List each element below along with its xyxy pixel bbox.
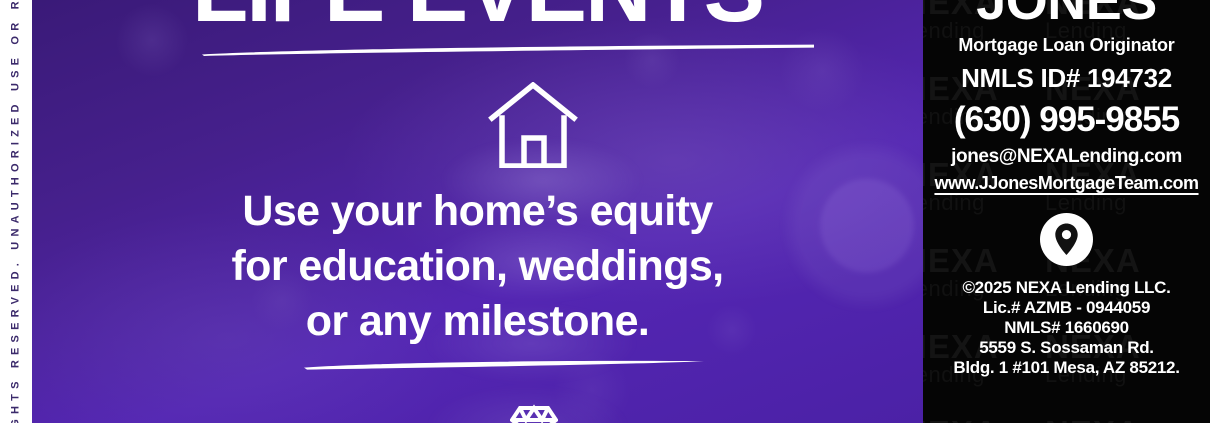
house-icon (488, 82, 578, 168)
legal-disclosure: ©2025 NEXA Lending LLC. Lic.# AZMB - 094… (929, 278, 1204, 378)
agent-name: JONES (929, 0, 1204, 28)
location-pin-wrapper (929, 213, 1204, 266)
creative-panel: LIFE EVENTS Use your home’s equity for e… (32, 0, 923, 423)
contact-panel: NEXALending NEXALending NEXALending NEXA… (923, 0, 1210, 423)
ad-creative-canvas: GHTS RESERVED. UNAUTHORIZED USE OR R LIF… (0, 0, 1210, 423)
copyright-watermark-strip: GHTS RESERVED. UNAUTHORIZED USE OR R (0, 0, 32, 423)
legal-line-1: ©2025 NEXA Lending LLC. (929, 278, 1204, 298)
watermark-tile-line1: NEXA (923, 416, 1045, 423)
watermark-tile-line1: NEXA (1045, 416, 1187, 423)
gem-icon (510, 400, 558, 423)
brush-underline-top (202, 44, 814, 56)
agent-website-link[interactable]: www.JJonesMortgageTeam.com (929, 173, 1204, 194)
agent-nmls-id: NMLS ID# 194732 (929, 63, 1204, 94)
legal-line-4: 5559 S. Sossaman Rd. (929, 338, 1204, 358)
brush-underline-bottom (304, 358, 704, 370)
location-pin-icon (1040, 213, 1093, 266)
contact-details: JONES Mortgage Loan Originator NMLS ID# … (923, 0, 1210, 378)
watermark-tile: NEXALending (1045, 410, 1187, 423)
agent-role: Mortgage Loan Originator (929, 35, 1204, 56)
watermark-tile: NEXALending (923, 410, 1045, 423)
legal-line-2: Lic.# AZMB - 0944059 (929, 298, 1204, 318)
legal-line-5: Bldg. 1 #101 Mesa, AZ 85212. (929, 358, 1204, 378)
agent-email[interactable]: jones@NEXALending.com (929, 146, 1204, 168)
agent-phone[interactable]: (630) 995-9855 (929, 100, 1204, 140)
subheadline-line-2: for education, weddings, (92, 239, 863, 294)
legal-line-3: NMLS# 1660690 (929, 318, 1204, 338)
subheadline-line-1: Use your home’s equity (92, 184, 863, 239)
subheadline: Use your home’s equity for education, we… (92, 184, 863, 349)
headline: LIFE EVENTS (32, 0, 923, 36)
subheadline-line-3: or any milestone. (92, 294, 863, 349)
copyright-watermark-text: GHTS RESERVED. UNAUTHORIZED USE OR R (10, 0, 22, 423)
